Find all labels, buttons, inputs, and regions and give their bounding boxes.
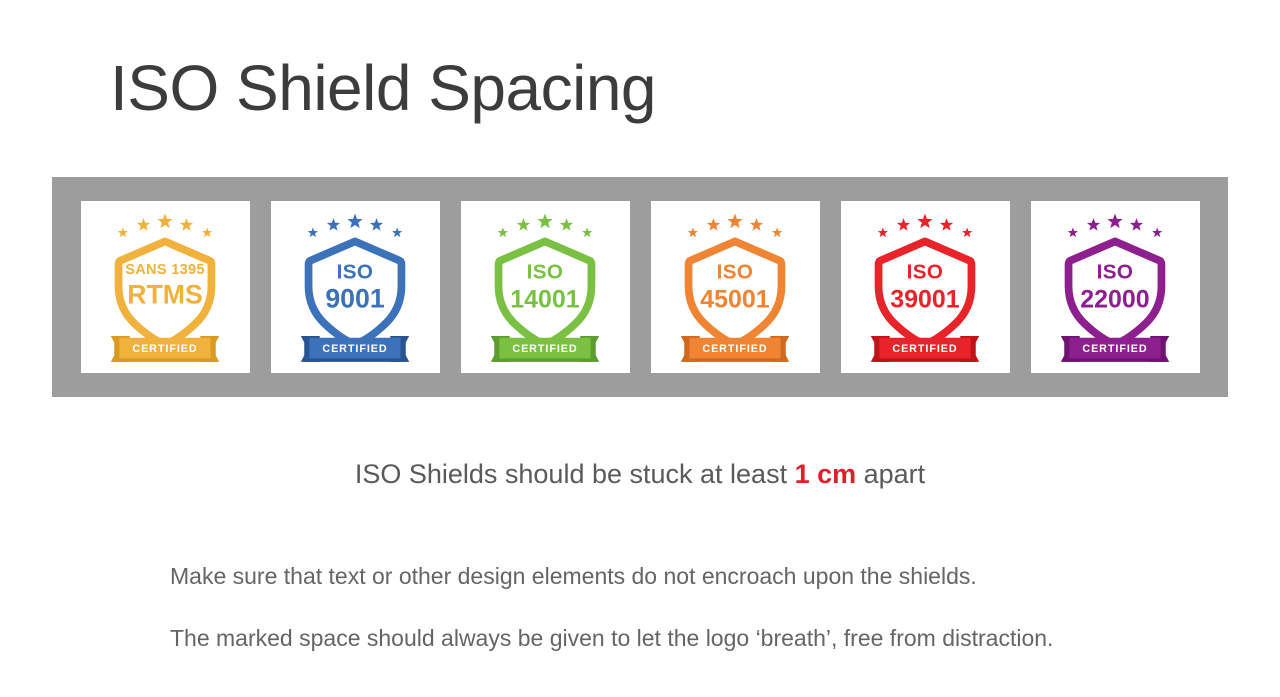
badge-tile-iso-22000[interactable]: ISO22000 CERTIFIED [1031,201,1200,373]
badge-graphic-iso-22000: ISO22000 CERTIFIED [1040,207,1190,367]
svg-text:SANS 1395: SANS 1395 [125,262,204,278]
badge-graphic-iso-9001: ISO9001 CERTIFIED [280,207,430,367]
badge-lettering-rtms: SANS 1395RTMS [125,262,204,309]
badge-stars-iso-14001 [498,214,592,238]
badge-ribbon-iso-39001: CERTIFIED [871,336,979,362]
body-note-breathing-space: The marked space should always be given … [170,625,1053,652]
caption-measure-value: 1 cm [795,459,857,489]
badge-tile-iso-9001[interactable]: ISO9001 CERTIFIED [271,201,440,373]
badge-ribbon-iso-14001: CERTIFIED [491,336,599,362]
badge-lettering-iso-39001: ISO39001 [890,260,959,313]
badge-ribbon-iso-22000: CERTIFIED [1061,336,1169,362]
svg-text:RTMS: RTMS [127,279,203,309]
svg-text:CERTIFIED: CERTIFIED [512,343,577,355]
svg-text:14001: 14001 [510,286,579,314]
svg-text:9001: 9001 [325,284,384,314]
badge-graphic-iso-14001: ISO14001 CERTIFIED [470,207,620,367]
svg-text:CERTIFIED: CERTIFIED [322,343,387,355]
caption-prefix: ISO Shields should be stuck at least [355,459,795,489]
svg-text:CERTIFIED: CERTIFIED [1082,343,1147,355]
svg-text:CERTIFIED: CERTIFIED [702,343,767,355]
body-note-encroachment: Make sure that text or other design elem… [170,563,977,590]
badge-lettering-iso-9001: ISO9001 [325,260,384,313]
svg-text:45001: 45001 [700,286,769,314]
badge-graphic-rtms: SANS 1395RTMS CERTIFIED [90,207,240,367]
badge-tile-iso-45001[interactable]: ISO45001 CERTIFIED [651,201,820,373]
svg-text:CERTIFIED: CERTIFIED [892,343,957,355]
badge-lettering-iso-22000: ISO22000 [1080,260,1149,313]
caption-suffix: apart [856,459,925,489]
badge-stars-iso-22000 [1068,214,1162,238]
shield-spacing-band: SANS 1395RTMS CERTIFIED ISO9001 CERTIFIE… [52,177,1228,397]
badge-ribbon-iso-45001: CERTIFIED [681,336,789,362]
svg-text:ISO: ISO [717,260,754,283]
badge-graphic-iso-45001: ISO45001 CERTIFIED [660,207,810,367]
badge-graphic-iso-39001: ISO39001 CERTIFIED [850,207,1000,367]
badge-stars-iso-45001 [688,214,782,238]
svg-text:ISO: ISO [1097,260,1134,283]
svg-text:ISO: ISO [907,260,944,283]
badge-tile-iso-39001[interactable]: ISO39001 CERTIFIED [841,201,1010,373]
badge-stars-rtms [118,214,212,238]
page-title: ISO Shield Spacing [110,52,656,126]
badge-ribbon-rtms: CERTIFIED [111,336,219,362]
spacing-caption: ISO Shields should be stuck at least 1 c… [0,459,1280,490]
svg-text:CERTIFIED: CERTIFIED [132,343,197,355]
svg-text:ISO: ISO [337,260,374,283]
badge-tile-rtms[interactable]: SANS 1395RTMS CERTIFIED [81,201,250,373]
badge-tile-iso-14001[interactable]: ISO14001 CERTIFIED [461,201,630,373]
svg-text:39001: 39001 [890,286,959,314]
svg-text:22000: 22000 [1080,286,1149,314]
badge-stars-iso-9001 [308,214,402,238]
badge-stars-iso-39001 [878,214,972,238]
badge-lettering-iso-14001: ISO14001 [510,260,579,313]
badge-lettering-iso-45001: ISO45001 [700,260,769,313]
badge-ribbon-iso-9001: CERTIFIED [301,336,409,362]
svg-text:ISO: ISO [527,260,564,283]
